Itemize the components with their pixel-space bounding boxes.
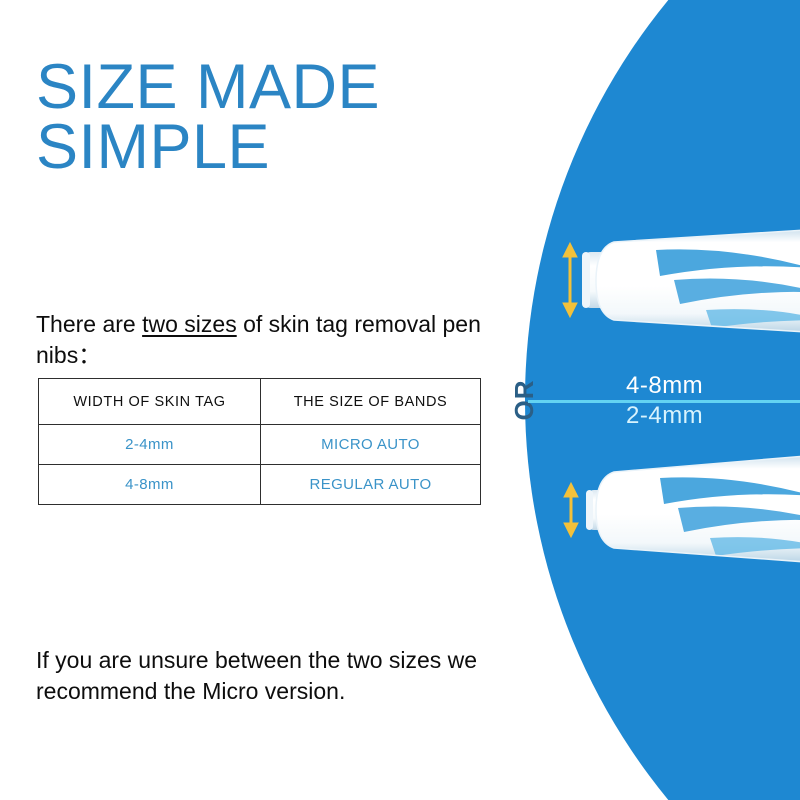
table-row: 4-8mm REGULAR AUTO <box>39 465 481 505</box>
regular-auto-pen-illustration <box>556 228 800 348</box>
table-header-width-of-skin-tag: WIDTH OF SKIN TAG <box>39 379 261 425</box>
table-row: 2-4mm MICRO AUTO <box>39 425 481 465</box>
table-header-size-of-bands: THE SIZE OF BANDS <box>261 379 481 425</box>
intro-paragraph: There are two sizes of skin tag removal … <box>36 309 526 370</box>
cell-band-size: MICRO AUTO <box>261 425 481 465</box>
recommendation-note: If you are unsure between the two sizes … <box>36 645 506 706</box>
intro-text-before: There are <box>36 311 142 337</box>
page-title: SIZE MADE SIMPLE <box>36 58 506 178</box>
cell-skin-tag-width: 4-8mm <box>39 465 261 505</box>
size-table: WIDTH OF SKIN TAG THE SIZE OF BANDS 2-4m… <box>38 378 481 505</box>
caption-lower-size: 2-4mm <box>626 402 703 430</box>
size-arrow-icon <box>563 243 577 317</box>
cell-skin-tag-width: 2-4mm <box>39 425 261 465</box>
table-header-row: WIDTH OF SKIN TAG THE SIZE OF BANDS <box>39 379 481 425</box>
size-arrow-icon <box>564 483 578 537</box>
cell-band-size: REGULAR AUTO <box>261 465 481 505</box>
pen-body <box>596 230 800 332</box>
pen-body <box>596 456 800 562</box>
micro-auto-pen-illustration <box>556 450 800 570</box>
product-infographic: SIZE MADE SIMPLE There are two sizes of … <box>0 0 800 800</box>
caption-upper-size: 4-8mm <box>626 372 703 400</box>
intro-text-underlined: two sizes <box>142 311 237 337</box>
